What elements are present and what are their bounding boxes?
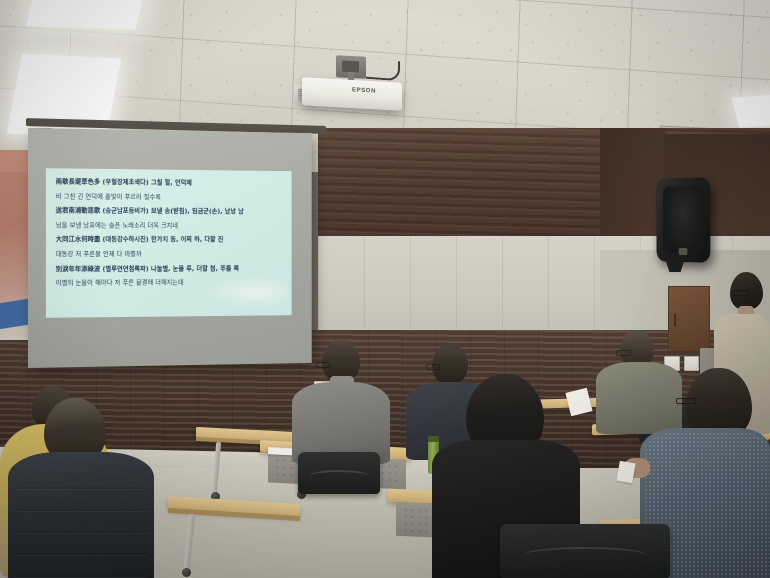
access-panel	[668, 286, 710, 352]
slide-line: 비 그친 긴 언덕에 풀빛이 푸르러 질수록	[56, 193, 285, 201]
wall-speaker	[656, 177, 710, 262]
desk-caster	[182, 568, 191, 577]
handout-paper	[616, 461, 635, 483]
glasses-icon	[426, 364, 440, 370]
slide-line: 送君南浦動悲歌 (송군남포동비가) 보낼 송(받침), 임금군(손), 남넝 남	[56, 207, 285, 215]
slide-line: 님을 보낸 남포에는 슬픈 노래소리 더욱 크지네	[56, 222, 285, 229]
projector-brand-label: EPSON	[352, 87, 376, 94]
projector-cable	[366, 59, 400, 81]
glasses-icon	[676, 398, 696, 404]
slide-line: 別淚年年添綠波 (별루연연첨록파) 나눌별, 눈물 루, 더할 첨, 푸를 록	[56, 265, 285, 272]
switch-icon[interactable]	[684, 356, 700, 371]
glasses-icon	[732, 290, 750, 296]
slide-glare	[206, 275, 288, 310]
chair	[298, 452, 380, 494]
ceiling-light-panel	[26, 0, 143, 30]
puffer-quilting	[14, 478, 148, 578]
speaker-badge-icon	[679, 248, 688, 255]
slide-line: 大同江水何時盡 (대동강수하시진) 한가지 동, 어찌 하, 다할 진	[56, 236, 285, 243]
slide-line: 대동강 저 푸른물 언제 다 마를까	[56, 251, 285, 257]
thermos-cap	[428, 436, 439, 442]
ceiling-projector	[302, 77, 402, 111]
ceiling-light-panel	[732, 94, 770, 127]
chair	[500, 524, 670, 578]
presentation-slide: 雨歇長堤草色多 (우헐장제초색다) 그칠 헐, 언덕제 비 그친 긴 언덕에 풀…	[46, 168, 292, 318]
torso	[596, 362, 682, 434]
slide-line: 雨歇長堤草色多 (우헐장제초색다) 그칠 헐, 언덕제	[56, 178, 285, 187]
glasses-icon	[316, 362, 330, 368]
glasses-icon	[616, 350, 631, 356]
projection-screen: 雨歇長堤草色多 (우헐장제초색다) 그칠 헐, 언덕제 비 그친 긴 언덕에 풀…	[28, 128, 312, 368]
lecture-room-photo: EPSON 雨歇長堤草色多 (우헐장제초색다) 그칠 헐, 언덕제 비 그친 긴…	[0, 0, 770, 578]
